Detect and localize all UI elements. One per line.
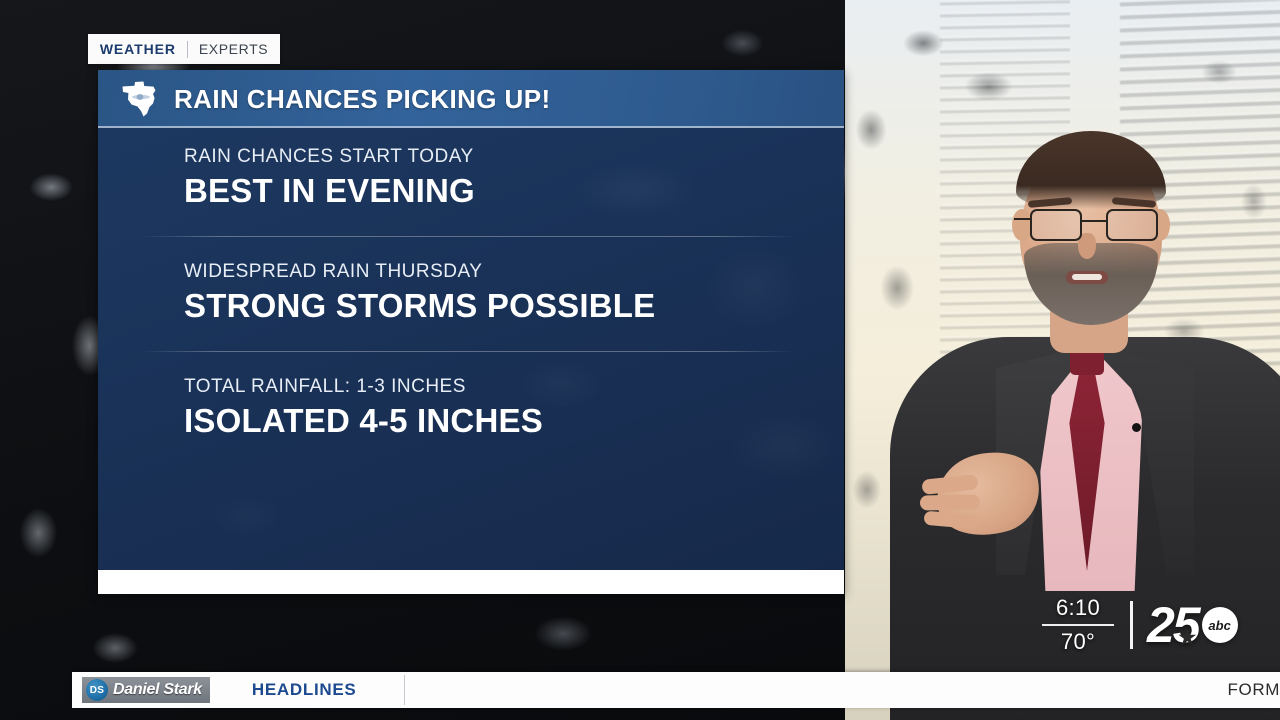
forecast-block: WIDESPREAD RAIN THURSDAY STRONG STORMS P… (98, 261, 844, 325)
bug-vertical-divider (1130, 601, 1133, 649)
abc-network-logo: abc (1202, 607, 1238, 643)
tab-label-weather: WEATHER (100, 41, 176, 57)
forecast-headline: STRONG STORMS POSSIBLE (184, 287, 844, 325)
forecast-subtitle: TOTAL RAINFALL: 1-3 INCHES (184, 376, 844, 398)
station-logo: 25 ★ abc (1147, 600, 1238, 650)
current-temperature: 70° (1040, 627, 1116, 655)
panel-title: RAIN CHANCES PICKING UP! (174, 84, 551, 115)
ticker-headline-text: FORM (405, 680, 1280, 700)
glasses-bridge (1082, 220, 1106, 222)
eyeglasses-icon (1020, 209, 1166, 241)
panel-title-bar: RAIN CHANCES PICKING UP! (98, 70, 844, 128)
sponsor-logo[interactable]: DS Daniel Stark (82, 677, 210, 703)
panel-footer-strip (98, 570, 844, 594)
lapel-microphone (1132, 423, 1141, 432)
weather-experts-tab: WEATHER EXPERTS (88, 34, 280, 64)
glasses-temple (1014, 218, 1032, 220)
forecast-subtitle: WIDESPREAD RAIN THURSDAY (184, 261, 844, 283)
texas-state-icon (116, 80, 164, 118)
sponsor-name: Daniel Stark (113, 681, 202, 699)
bug-horizontal-rule (1042, 624, 1114, 626)
broadcast-stage: WEATHER EXPERTS RAIN CHANCES PICKING UP!… (0, 0, 1280, 720)
forecast-headline: ISOLATED 4-5 INCHES (184, 402, 844, 440)
finger (920, 494, 980, 510)
hair (1016, 131, 1166, 209)
section-divider (140, 236, 794, 237)
tab-label-experts: EXPERTS (199, 41, 268, 57)
forecast-headline: BEST IN EVENING (184, 172, 844, 210)
lens-left (1030, 209, 1082, 241)
star-icon: ★ (1177, 626, 1198, 649)
teeth (1072, 274, 1102, 280)
lens-right (1106, 209, 1158, 241)
forecast-subtitle: RAIN CHANCES START TODAY (184, 146, 844, 168)
ticker-label: HEADLINES (252, 680, 357, 700)
panel-body: RAIN CHANCES START TODAY BEST IN EVENING… (98, 128, 844, 570)
news-ticker-bar: DS Daniel Stark HEADLINES FORM (72, 672, 1280, 708)
station-bug-cluster: 6:10 70° 25 ★ abc (1040, 588, 1270, 662)
tab-separator (187, 41, 188, 58)
forecast-graphic-panel: RAIN CHANCES PICKING UP! RAIN CHANCES ST… (98, 70, 844, 594)
forecast-block: RAIN CHANCES START TODAY BEST IN EVENING (98, 146, 844, 210)
time-temperature-group: 6:10 70° (1040, 595, 1116, 655)
current-time: 6:10 (1040, 595, 1116, 623)
section-divider (140, 351, 794, 352)
forecast-block: TOTAL RAINFALL: 1-3 INCHES ISOLATED 4-5 … (98, 376, 844, 440)
sponsor-badge-icon: DS (86, 679, 108, 701)
